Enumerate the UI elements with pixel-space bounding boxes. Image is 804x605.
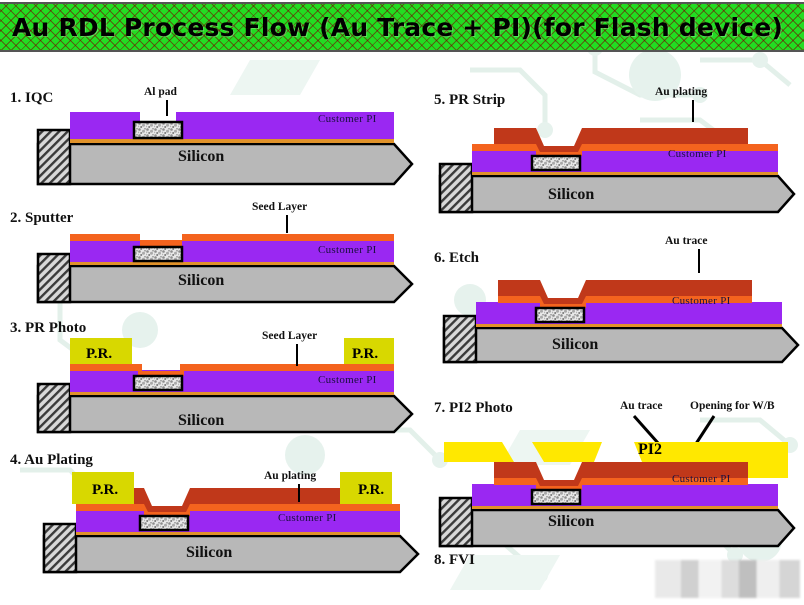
redacted-logo <box>655 560 800 598</box>
layer-label-pr-4-left: P.R. <box>92 482 118 499</box>
callout-au-plating-5: Au plating <box>655 86 707 98</box>
layer-label-silicon-2: Silicon <box>178 272 224 290</box>
layer-label-customer-pi-7: Customer PI <box>672 473 731 485</box>
leader-line-au-plating-5 <box>692 100 694 122</box>
step-label-3: 3. PR Photo <box>10 320 86 337</box>
callout-au-trace-6: Au trace <box>665 235 707 247</box>
layer-label-customer-pi-2: Customer PI <box>318 244 377 256</box>
leader-line-al-pad <box>166 100 168 116</box>
callout-au-trace-7: Au trace <box>620 400 662 412</box>
title-banner: Au RDL Process Flow (Au Trace + PI)(for … <box>0 2 804 52</box>
step-7-diagram <box>436 436 796 554</box>
layer-label-pr-3-left: P.R. <box>86 346 112 363</box>
leader-line-au-trace-6 <box>698 249 700 273</box>
layer-label-customer-pi-3: Customer PI <box>318 374 377 386</box>
step-label-5: 5. PR Strip <box>434 92 505 109</box>
layer-label-silicon-5: Silicon <box>548 186 594 204</box>
layer-label-pr-4-right: P.R. <box>358 482 384 499</box>
layer-label-silicon-1: Silicon <box>178 148 224 166</box>
layer-label-customer-pi-5: Customer PI <box>668 148 727 160</box>
callout-au-plating-4: Au plating <box>264 470 316 482</box>
step-label-6: 6. Etch <box>434 250 479 267</box>
step-label-1: 1. IQC <box>10 90 53 107</box>
leader-line-au-plating-4 <box>298 484 300 502</box>
layer-label-silicon-6: Silicon <box>552 336 598 354</box>
layer-label-customer-pi-6: Customer PI <box>672 295 731 307</box>
layer-label-customer-pi-4: Customer PI <box>278 512 337 524</box>
layer-label-customer-pi-1: Customer PI <box>318 113 377 125</box>
callout-seed-layer-2: Seed Layer <box>252 201 307 213</box>
step-6-diagram <box>440 266 800 366</box>
step-label-8: 8. FVI <box>434 552 475 569</box>
step-5-diagram <box>436 112 796 216</box>
layer-label-silicon-3: Silicon <box>178 412 224 430</box>
layer-label-pi2: PI2 <box>638 441 662 459</box>
layer-label-silicon-7: Silicon <box>548 513 594 531</box>
callout-wb-opening: Opening for W/B <box>690 400 775 412</box>
layer-label-silicon-4: Silicon <box>186 544 232 562</box>
callout-al-pad: Al pad <box>144 86 177 98</box>
step-label-2: 2. Sputter <box>10 210 73 227</box>
layer-label-pr-3-right: P.R. <box>352 346 378 363</box>
page-title: Au RDL Process Flow (Au Trace + PI)(for … <box>12 13 783 42</box>
leader-line-seed-layer-3 <box>296 344 298 366</box>
step-label-7: 7. PI2 Photo <box>434 400 513 417</box>
step-2-diagram <box>34 226 414 308</box>
step-label-4: 4. Au Plating <box>10 452 93 469</box>
callout-seed-layer-3: Seed Layer <box>262 330 317 342</box>
leader-line-seed-layer-2 <box>286 215 288 233</box>
